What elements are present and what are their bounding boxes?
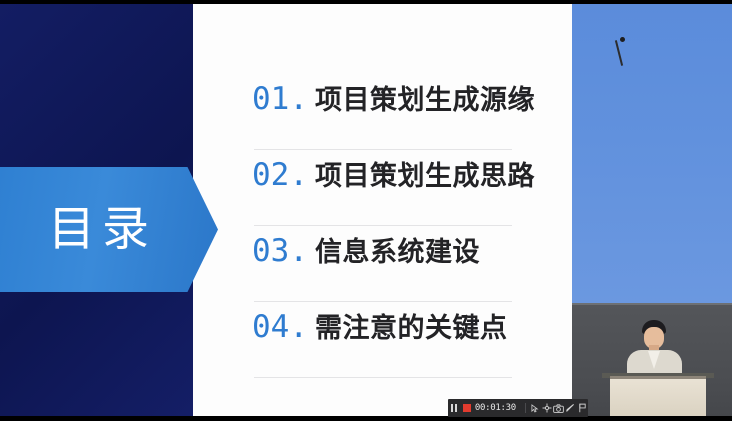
pause-icon — [451, 404, 453, 412]
toc-number: 02. — [252, 160, 308, 191]
toc-title: 项目策划生成源缘 — [315, 87, 535, 114]
flag-icon[interactable] — [576, 399, 588, 417]
letterbox-top — [0, 0, 732, 4]
toc-divider — [254, 377, 512, 378]
room-wall-edge — [572, 303, 732, 305]
toc-item[interactable]: 01. 项目策划生成源缘 — [252, 74, 514, 150]
presentation-slide: 目录 01. 项目策划生成源缘 02. 项目策划生成思路 03. — [0, 4, 572, 416]
letterbox-bottom — [0, 416, 732, 421]
pause-button[interactable] — [448, 399, 460, 417]
toolbar-divider — [525, 403, 526, 413]
contents-badge-label: 目录 — [0, 206, 156, 253]
cursor-icon[interactable] — [530, 399, 542, 417]
recording-toolbar[interactable]: 00:01:30 — [448, 399, 588, 417]
pen-icon[interactable] — [565, 399, 577, 417]
camera-icon[interactable] — [553, 399, 565, 417]
stop-icon — [463, 404, 471, 412]
microphone-head — [620, 37, 625, 42]
toc-number: 03. — [252, 236, 308, 267]
toc-item[interactable]: 02. 项目策划生成思路 — [252, 150, 514, 226]
toc-title: 信息系统建设 — [315, 239, 480, 266]
video-backdrop-upper — [572, 4, 732, 303]
pause-icon — [455, 404, 457, 412]
screen-share-view: 目录 01. 项目策划生成源缘 02. 项目策划生成思路 03. — [0, 0, 732, 421]
toc-title: 项目策划生成思路 — [315, 163, 535, 190]
crosshair-icon[interactable] — [541, 399, 553, 417]
toc-item[interactable]: 04. 需注意的关键点 — [252, 302, 514, 378]
table-of-contents: 01. 项目策划生成源缘 02. 项目策划生成思路 03. 信息系统建设 — [252, 74, 514, 378]
stop-button[interactable] — [460, 399, 472, 417]
toc-number: 04. — [252, 312, 308, 343]
contents-badge: 目录 — [0, 167, 218, 292]
toc-item[interactable]: 03. 信息系统建设 — [252, 226, 514, 302]
podium — [610, 376, 706, 416]
toc-number: 01. — [252, 84, 308, 115]
speaker-camera-feed[interactable] — [572, 4, 732, 416]
recording-timer: 00:01:30 — [475, 403, 516, 413]
toc-title: 需注意的关键点 — [315, 315, 508, 342]
